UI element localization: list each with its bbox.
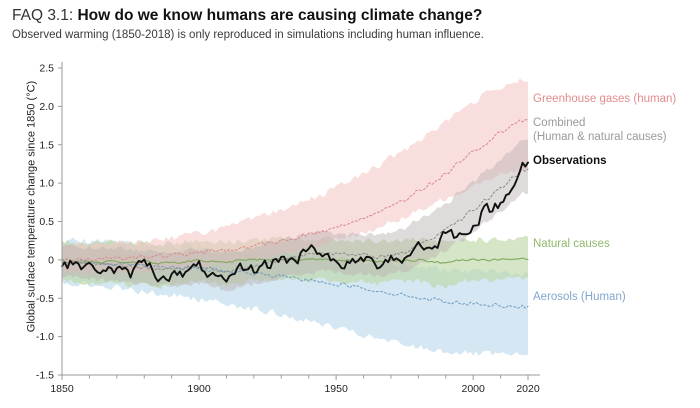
svg-text:-1.5: -1.5 xyxy=(36,370,54,382)
svg-text:0.5: 0.5 xyxy=(39,216,54,228)
chart-figure: Global surface temperature change since … xyxy=(0,50,700,408)
svg-text:-1.0: -1.0 xyxy=(36,331,54,343)
svg-text:0: 0 xyxy=(48,254,54,266)
svg-text:1850: 1850 xyxy=(50,383,74,395)
svg-text:-0.5: -0.5 xyxy=(36,293,54,305)
svg-text:1900: 1900 xyxy=(187,383,211,395)
svg-text:2000: 2000 xyxy=(461,383,485,395)
svg-text:1.5: 1.5 xyxy=(39,139,54,151)
faq-question: How do we know humans are causing climat… xyxy=(77,7,482,24)
legend-item-observations: Observations xyxy=(533,154,607,168)
legend-label-ghg: Greenhouse gases (human) xyxy=(533,93,676,105)
legend-item-aerosols: Aerosols (Human) xyxy=(533,290,626,304)
legend-item-combined: Combined (Human & natural causes) xyxy=(533,116,667,144)
legend-item-greenhouse-gases: Greenhouse gases (human) xyxy=(533,92,676,106)
legend-label-aerosols: Aerosols (Human) xyxy=(533,291,626,303)
svg-text:2.0: 2.0 xyxy=(39,101,54,113)
legend-label-combined-line2: (Human & natural causes) xyxy=(533,130,667,144)
faq-number: FAQ 3.1: xyxy=(12,7,73,24)
svg-text:1.0: 1.0 xyxy=(39,178,54,190)
svg-text:2.5: 2.5 xyxy=(39,63,54,75)
legend-label-combined-line1: Combined xyxy=(533,116,667,130)
legend-label-natural: Natural causes xyxy=(533,238,610,250)
svg-text:1950: 1950 xyxy=(324,383,348,395)
figure-subtitle: Observed warming (1850-2018) is only rep… xyxy=(12,28,688,43)
legend-item-natural-causes: Natural causes xyxy=(533,237,610,251)
figure-header: FAQ 3.1: How do we know humans are causi… xyxy=(12,6,688,43)
svg-text:2020: 2020 xyxy=(516,383,540,395)
legend-label-observations: Observations xyxy=(533,155,607,167)
page-title: FAQ 3.1: How do we know humans are causi… xyxy=(12,6,688,25)
